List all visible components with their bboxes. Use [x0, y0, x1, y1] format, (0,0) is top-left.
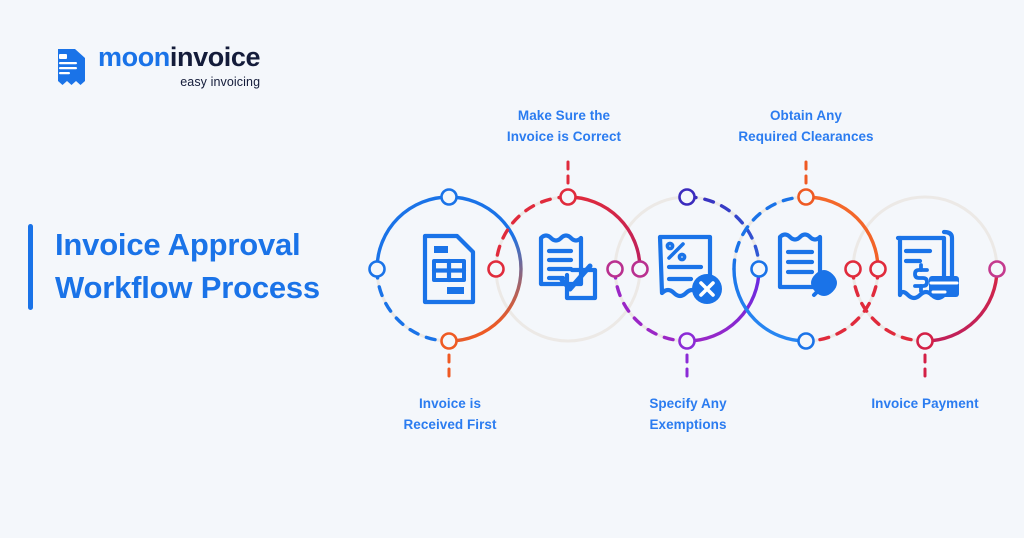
node-3-left: [608, 262, 623, 277]
receipt-percent-reject-icon: [660, 237, 722, 304]
node-3-right: [752, 262, 767, 277]
receipt-dollar-card-icon: [898, 232, 959, 298]
node-5-bottom: [918, 334, 933, 349]
node-1-left: [370, 262, 385, 277]
step-1-label: Invoice is Received First: [381, 394, 519, 435]
step-5-label: Invoice Payment: [850, 394, 1000, 415]
node-2-left: [489, 262, 504, 277]
infographic-canvas: mooninvoice easy invoicing Invoice Appro…: [0, 0, 1024, 538]
node-4-right: [871, 262, 886, 277]
step-4-label: Obtain Any Required Clearances: [722, 106, 890, 147]
node-1-bottom: [442, 334, 457, 349]
step-3-label: Specify Any Exemptions: [620, 394, 756, 435]
document-stamp-icon: [780, 235, 836, 296]
node-1-top: [442, 190, 457, 205]
node-2-right: [633, 262, 648, 277]
node-4-bottom: [799, 334, 814, 349]
node-4-top: [799, 190, 814, 205]
workflow-diagram: [0, 0, 1024, 538]
node-3-top: [680, 190, 695, 205]
step-2-label: Make Sure the Invoice is Correct: [484, 106, 644, 147]
document-checkmark-icon: [541, 236, 595, 299]
node-2-top: [561, 190, 576, 205]
node-5-left: [846, 262, 861, 277]
node-5-right: [990, 262, 1005, 277]
document-table-icon: [425, 236, 473, 302]
node-3-bottom: [680, 334, 695, 349]
